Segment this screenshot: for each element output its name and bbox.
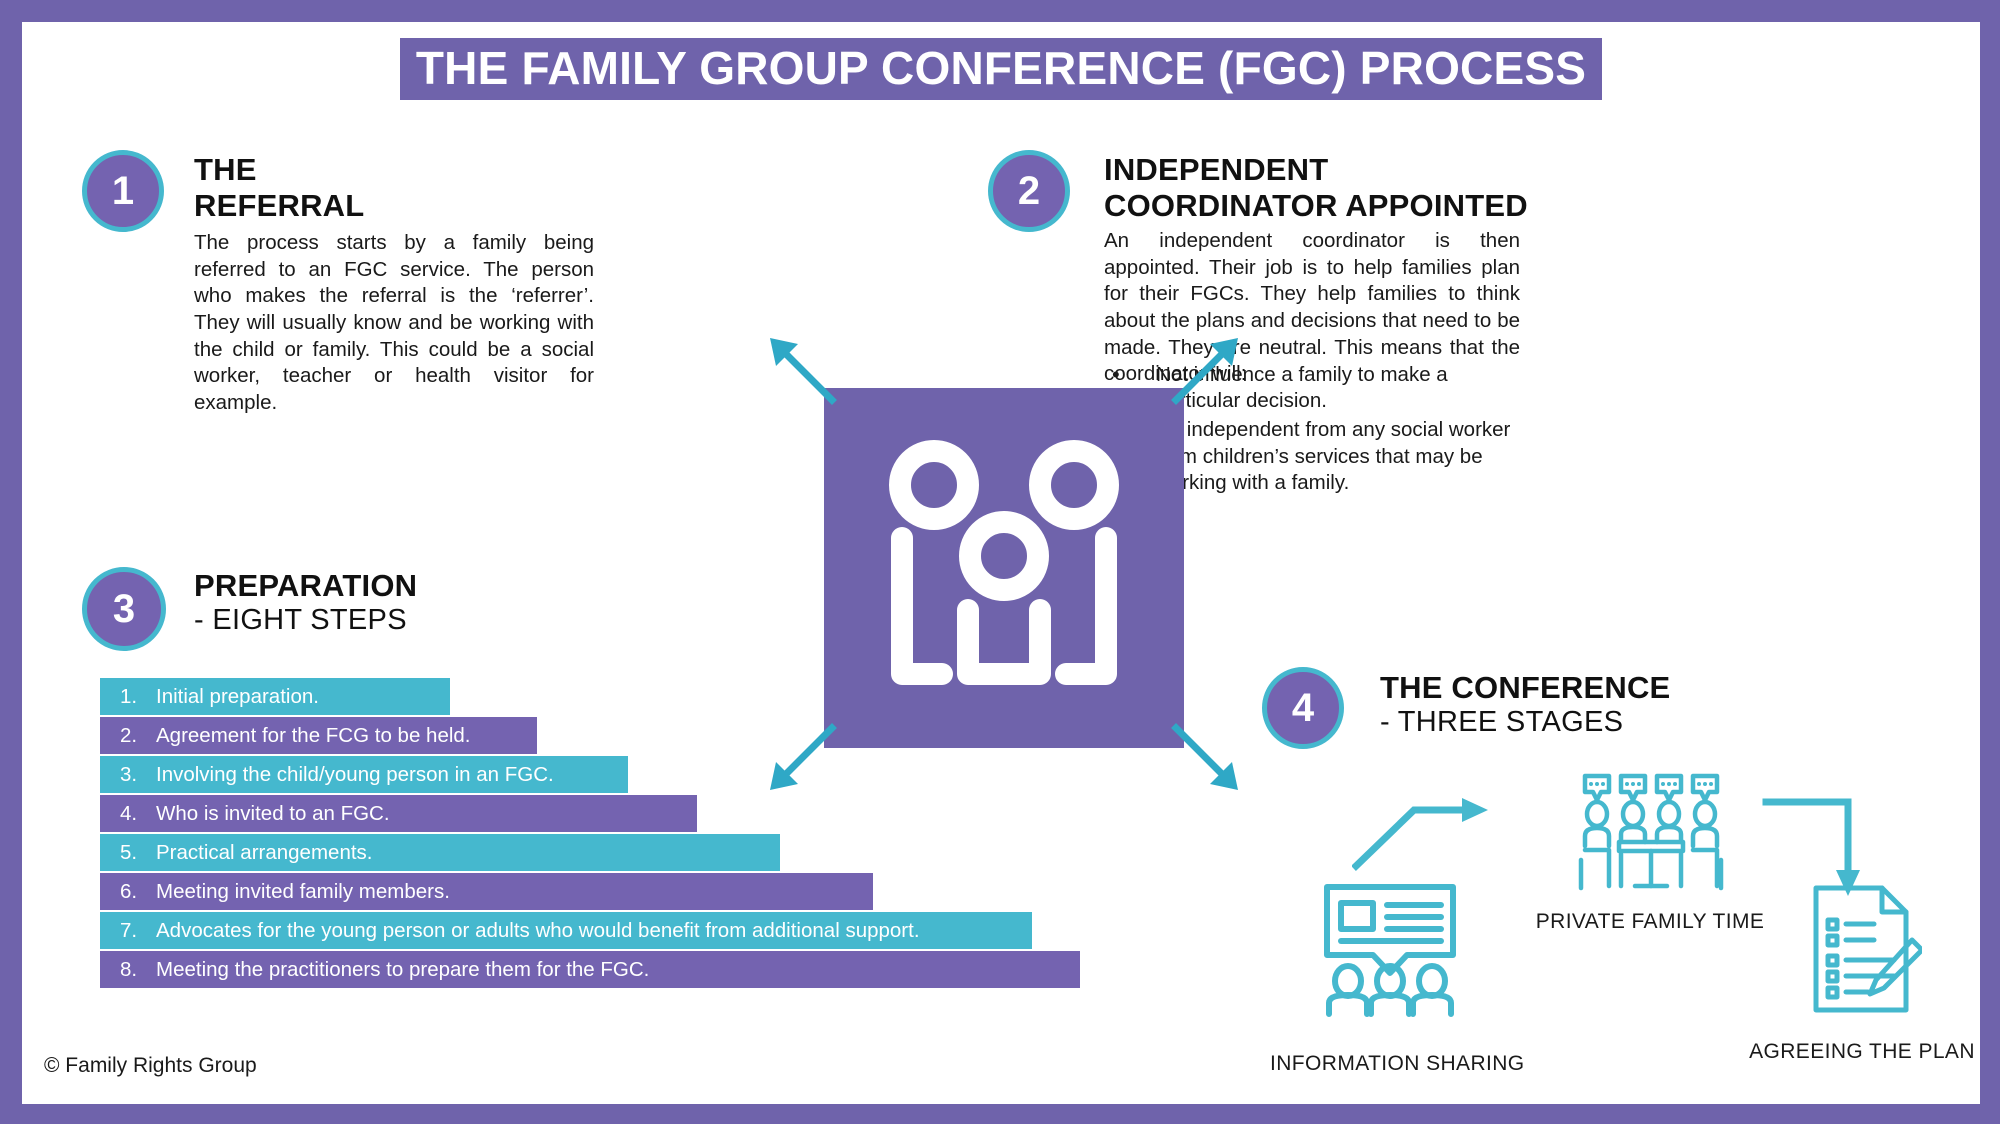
arrow-to-private-family-time-icon [1352,792,1492,872]
step-bar-4-label: Who is invited to an FGC. [156,802,390,826]
section-2-heading-line1: INDEPENDENT [1104,152,1664,188]
speech-bubble-people-icon [1315,877,1465,1017]
section-3-heading-line1: PREPARATION [194,568,694,604]
page-title: THE FAMILY GROUP CONFERENCE (FGC) PROCES… [400,38,1602,100]
step-bar-8-label: Meeting the practitioners to prepare the… [156,958,649,982]
arrow-down-left-icon [766,722,838,794]
step-bar-4: 4. Who is invited to an FGC. [100,795,697,832]
arrow-down-right-icon [1170,722,1242,794]
section-2-heading: INDEPENDENT COORDINATOR APPOINTED [1104,152,1664,223]
step-badge-2: 2 [988,150,1070,232]
arrow-up-left-icon [766,334,838,406]
step-bar-6: 6. Meeting invited family members. [100,873,873,910]
step-bar-1-number: 1. [120,685,156,709]
step-badge-2-number: 2 [1018,171,1040,211]
section-1-heading-line1: THE [194,152,624,188]
step-bar-7-number: 7. [120,919,156,943]
document-pencil-icon [1802,882,1922,1017]
stage-information-sharing: INFORMATION SHARING [1270,877,1510,1076]
step-bar-2-label: Agreement for the FCG to be held. [156,724,471,748]
stage-2-label: PRIVATE FAMILY TIME [1530,910,1770,934]
section-3-heading-line2: - EIGHT STEPS [194,604,694,637]
step-bar-4-number: 4. [120,802,156,826]
step-bar-1: 1. Initial preparation. [100,678,450,715]
step-badge-3-number: 3 [113,589,135,629]
step-badge-4-number: 4 [1292,688,1314,728]
section-1-body: The process starts by a family being ref… [194,230,594,416]
section-1-heading-line2: REFERRAL [194,188,624,224]
step-badge-1: 1 [82,150,164,232]
step-bar-8: 8. Meeting the practitioners to prepare … [100,951,1080,988]
step-badge-3: 3 [82,567,166,651]
center-emblem [824,388,1184,748]
step-badge-4: 4 [1262,667,1344,749]
step-bar-2-number: 2. [120,724,156,748]
step-bar-3: 3. Involving the child/young person in a… [100,756,628,793]
family-at-table-icon [1575,770,1725,895]
section-4-heading: THE CONFERENCE - THREE STAGES [1380,670,1850,739]
stage-1-label: INFORMATION SHARING [1270,1052,1510,1076]
title-container: THE FAMILY GROUP CONFERENCE (FGC) PROCES… [22,38,1980,100]
step-bar-1-label: Initial preparation. [156,685,319,709]
stage-agreeing-the-plan: AGREEING THE PLAN [1742,882,1982,1064]
step-bar-6-number: 6. [120,880,156,904]
poster-canvas: THE FAMILY GROUP CONFERENCE (FGC) PROCES… [22,22,1980,1104]
step-badge-1-number: 1 [112,171,134,211]
step-bar-7: 7. Advocates for the young person or adu… [100,912,1032,949]
section-1-heading: THE REFERRAL [194,152,624,223]
section-4-heading-line2: - THREE STAGES [1380,706,1850,739]
family-group-icon [876,438,1132,698]
step-bar-3-number: 3. [120,763,156,787]
copyright-footer: © Family Rights Group [44,1054,257,1078]
section-4-heading-line1: THE CONFERENCE [1380,670,1850,706]
section-3-heading: PREPARATION - EIGHT STEPS [194,568,694,637]
step-bar-5: 5. Practical arrangements. [100,834,780,871]
stage-3-label: AGREEING THE PLAN [1742,1040,1982,1064]
section-2-heading-line2: COORDINATOR APPOINTED [1104,188,1664,224]
step-bar-2: 2. Agreement for the FCG to be held. [100,717,537,754]
step-bar-3-label: Involving the child/young person in an F… [156,763,554,787]
stage-private-family-time: PRIVATE FAMILY TIME [1530,770,1770,934]
step-bar-8-number: 8. [120,958,156,982]
step-bar-7-label: Advocates for the young person or adults… [156,919,920,943]
step-bar-5-label: Practical arrangements. [156,841,372,865]
infographic-poster: THE FAMILY GROUP CONFERENCE (FGC) PROCES… [0,0,2000,1124]
step-bar-6-label: Meeting invited family members. [156,880,450,904]
arrow-up-right-icon [1170,334,1242,406]
step-bar-5-number: 5. [120,841,156,865]
